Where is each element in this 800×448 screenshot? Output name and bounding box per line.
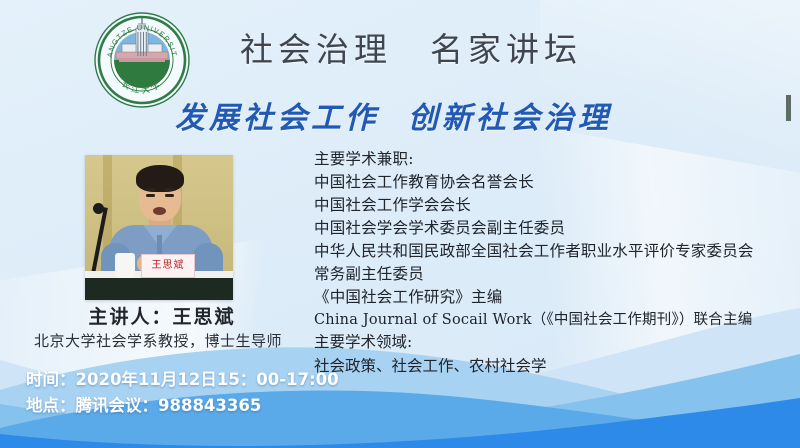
photo-eye-left bbox=[146, 194, 155, 197]
photo-eye-right bbox=[165, 194, 174, 197]
event-info: 时间：2020年11月12日15：00-17:00 地点：腾讯会议：988843… bbox=[26, 367, 339, 419]
event-place: 地点：腾讯会议：988843365 bbox=[26, 393, 339, 419]
lecture-poster: YANGTZE UNIVERSITY 长江大学 社会治理 名家讲坛 发展社会工作… bbox=[0, 0, 800, 448]
edge-artifact bbox=[786, 95, 791, 121]
bio-line: 中华人民共和国民政部全国社会工作者职业水平评价专家委员会 bbox=[314, 240, 792, 263]
event-time: 时间：2020年11月12日15：00-17:00 bbox=[26, 367, 339, 393]
page-title: 社会治理 名家讲坛 bbox=[240, 23, 660, 71]
bio-heading: 主要学术兼职: bbox=[314, 148, 792, 171]
photo-nameplate-text: 王思斌 bbox=[152, 261, 185, 271]
photo-hair bbox=[136, 165, 184, 192]
photo-mouth bbox=[153, 207, 166, 215]
bio-line-english: China Journal of Socail Work（《中国社会工作期刊》）… bbox=[314, 309, 792, 332]
photo-cup bbox=[115, 253, 135, 278]
page-subtitle: 发展社会工作 创新社会治理 bbox=[175, 93, 695, 137]
speaker-affiliation: 北京大学社会学系教授，博士生导师 bbox=[8, 330, 308, 351]
microphone-head-icon bbox=[93, 203, 104, 214]
bio-line: 中国社会学会学术委员会副主任委员 bbox=[314, 217, 792, 240]
fields-value: 社会政策、社会工作、农村社会学 bbox=[314, 354, 792, 378]
bio-line: 常务副主任委员 bbox=[314, 263, 792, 286]
photo-eyebrow-right bbox=[164, 188, 175, 191]
bio-section: 主要学术兼职: 中国社会工作教育协会名誉会长 中国社会工作学会会长 中国社会学会… bbox=[314, 148, 792, 332]
photo-eyebrow-left bbox=[145, 188, 156, 191]
photo-nameplate: 王思斌 bbox=[141, 254, 195, 278]
bio-line: 《中国社会工作研究》主编 bbox=[314, 286, 792, 309]
fields-heading: 主要学术领域: bbox=[314, 330, 792, 354]
bio-line: 中国社会工作教育协会名誉会长 bbox=[314, 171, 792, 194]
bio-line: 中国社会工作学会会长 bbox=[314, 194, 792, 217]
speaker-photo: 王思斌 bbox=[85, 155, 233, 300]
speaker-name: 主讲人：王思斌 bbox=[22, 302, 302, 329]
fields-section: 主要学术领域: 社会政策、社会工作、农村社会学 bbox=[314, 330, 792, 378]
